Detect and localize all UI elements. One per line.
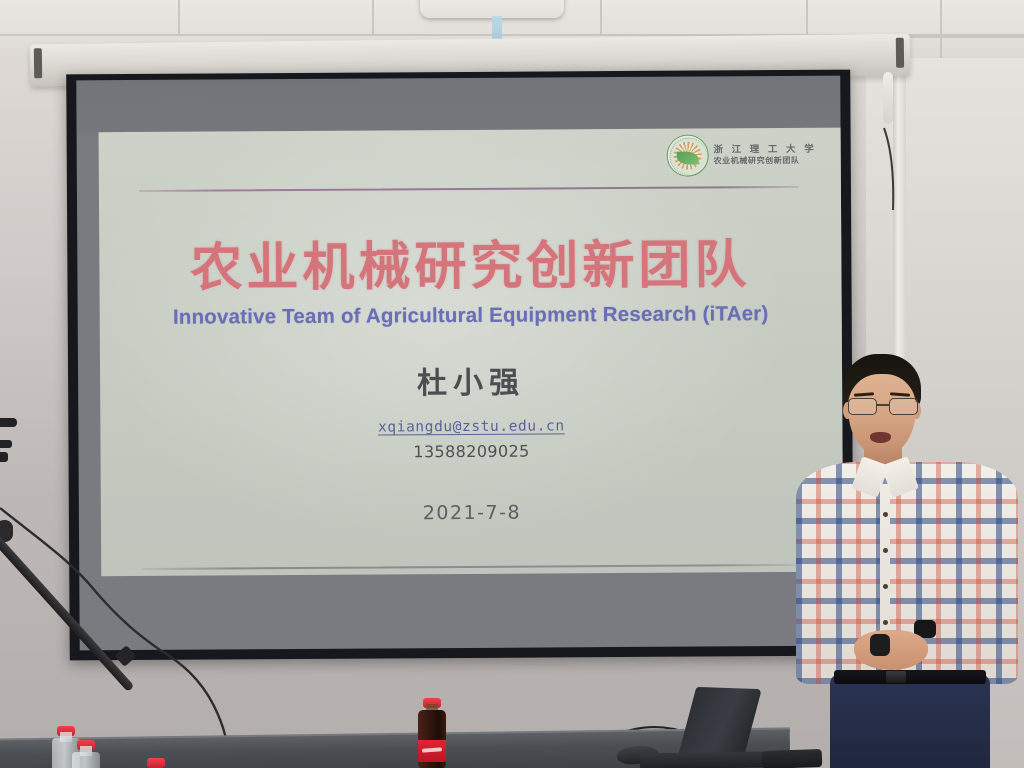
ceiling-tile-line — [178, 0, 180, 36]
slide-logo: 浙 江 理 工 大 学 农业机械研究创新团队 — [666, 134, 816, 177]
bottle-body — [72, 752, 100, 768]
presenter-belt — [834, 670, 986, 684]
emblem-ring — [669, 137, 707, 175]
screen-pull-cord[interactable] — [883, 72, 893, 124]
slide-title-chinese: 农业机械研究创新团队 — [99, 222, 841, 302]
screen-surface: 浙 江 理 工 大 学 农业机械研究创新团队 农业机械研究创新团队 Innova… — [76, 76, 843, 651]
fixture-part — [0, 452, 8, 462]
roller-end-cap-right — [896, 38, 904, 68]
glasses-bridge — [876, 404, 890, 406]
glasses-lens — [848, 398, 877, 415]
zstu-emblem-icon — [666, 134, 708, 176]
wall-mounted-fixture — [0, 418, 18, 466]
slide-divider-bottom — [141, 564, 801, 570]
projected-slide: 浙 江 理 工 大 学 农业机械研究创新团队 农业机械研究创新团队 Innova… — [99, 128, 844, 577]
slide-date: 2021-7-8 — [101, 500, 843, 527]
eyeglasses-icon — [845, 398, 921, 414]
roller-end-cap-left — [34, 48, 42, 78]
slide-email-link[interactable]: xqiangdu@zstu.edu.cn — [100, 417, 842, 438]
bottle-body — [418, 710, 446, 768]
bottle-cap — [147, 758, 165, 768]
shirt-button — [883, 584, 888, 589]
presenter-mouth — [870, 432, 891, 443]
fixture-part — [0, 418, 17, 427]
presenter-hands — [854, 630, 928, 670]
lecture-room-scene: 浙 江 理 工 大 学 农业机械研究创新团队 农业机械研究创新团队 Innova… — [0, 0, 1024, 768]
logo-team-name: 农业机械研究创新团队 — [714, 156, 817, 167]
shirt-button — [883, 620, 888, 625]
logo-university-name: 浙 江 理 工 大 学 — [713, 144, 816, 157]
ceiling-tile-line — [940, 0, 942, 64]
ceiling-tile-line — [372, 0, 374, 36]
slide-speaker-name: 杜小强 — [100, 356, 842, 405]
ceiling-tile-line — [600, 0, 602, 36]
presenter — [790, 352, 1024, 768]
fixture-part — [0, 440, 12, 448]
presenter-trousers — [830, 674, 990, 768]
projection-screen: 浙 江 理 工 大 学 农业机械研究创新团队 农业机械研究创新团队 Innova… — [66, 70, 854, 661]
slide-divider-top — [139, 186, 799, 192]
presenter-remote[interactable] — [870, 634, 890, 656]
logo-text-block: 浙 江 理 工 大 学 农业机械研究创新团队 — [713, 144, 816, 167]
shirt-button — [883, 548, 888, 553]
belt-buckle — [886, 671, 906, 683]
shirt-button — [883, 512, 888, 517]
slide-title-english: Innovative Team of Agricultural Equipmen… — [100, 302, 842, 331]
slide-phone-number: 13588209025 — [100, 440, 842, 464]
glasses-lens — [889, 398, 918, 415]
cola-label — [418, 740, 446, 762]
